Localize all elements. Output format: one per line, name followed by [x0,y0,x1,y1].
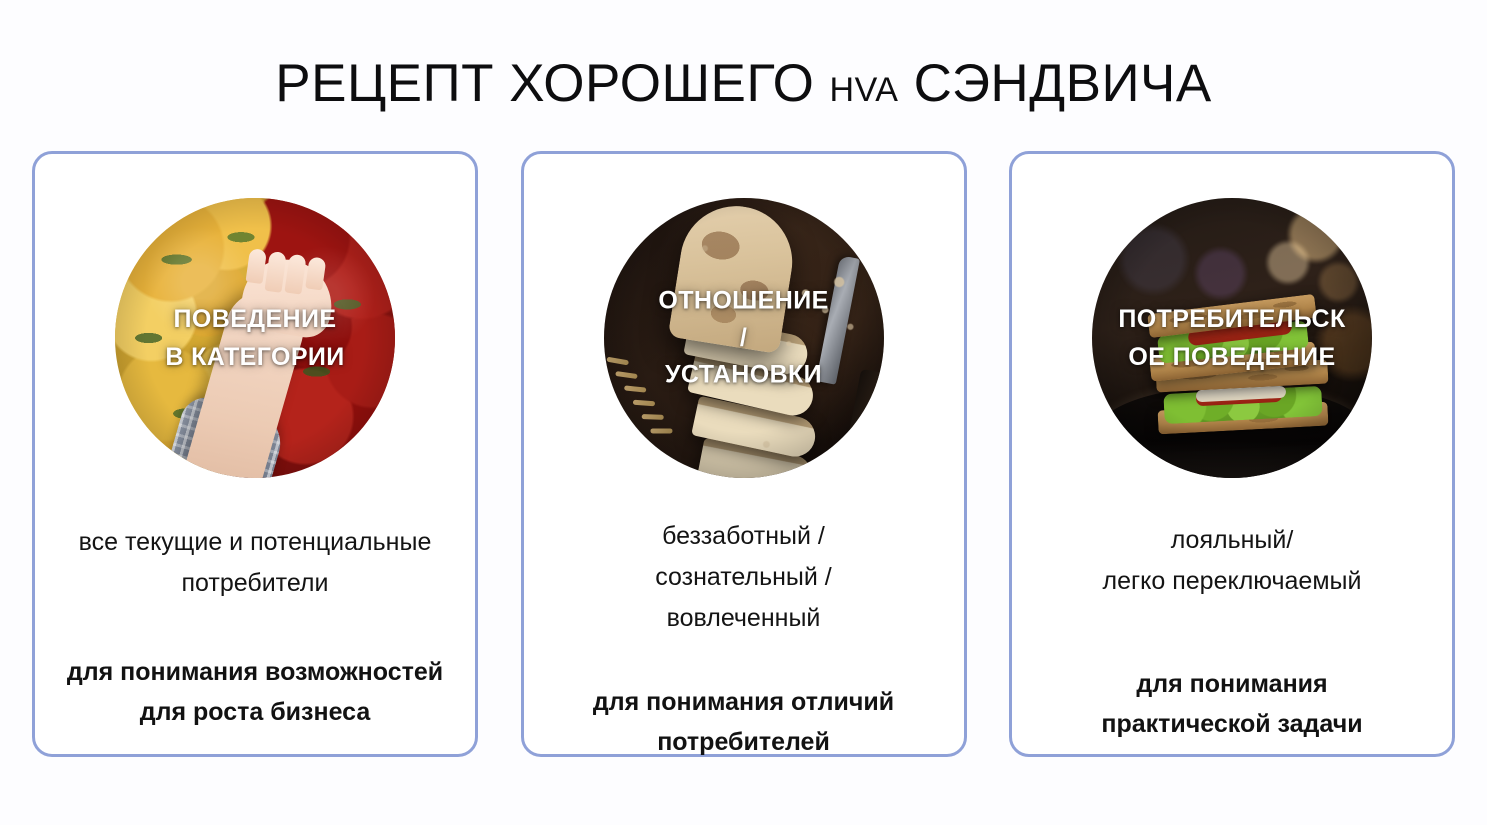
page-title: РЕЦЕПТ ХОРОШЕГО HVA СЭНДВИЧА [0,57,1487,110]
page-title-part-after: СЭНДВИЧА [898,54,1211,113]
card-text-block: лояльный/ легко переключаемый для понима… [1017,478,1447,744]
club-sandwich-photo: ПОТРЕБИТЕЛЬСК ОЕ ПОВЕДЕНИЕ [1092,198,1372,478]
card-overlay-label: ПОТРЕБИТЕЛЬСК ОЕ ПОВЕДЕНИЕ [1066,300,1398,376]
card-overlay-label: ОТНОШЕНИЕ / УСТАНОВКИ [578,283,910,394]
card-row: ПОВЕДЕНИЕ В КАТЕГОРИИ все текущие и поте… [32,151,1455,757]
card-consumer-behaviour[interactable]: ПОТРЕБИТЕЛЬСК ОЕ ПОВЕДЕНИЕ лояльный/ лег… [1009,151,1455,757]
sliced-bread-loaf-photo: ОТНОШЕНИЕ / УСТАНОВКИ [604,198,884,478]
card-purpose: для понимания возможностей для роста биз… [48,652,462,732]
card-description: беззаботный / сознательный / вовлеченный [537,516,951,639]
card-description: лояльный/ легко переключаемый [1025,520,1439,602]
card-purpose: для понимания практической задачи [1025,664,1439,744]
card-description: все текущие и потенциальные потребители [48,522,462,604]
card-attitudes[interactable]: ОТНОШЕНИЕ / УСТАНОВКИ беззаботный / созн… [521,151,967,757]
card-purpose: для понимания отличий потребителей [537,682,951,762]
page-title-acronym: HVA [830,71,899,109]
card-behaviour-in-category[interactable]: ПОВЕДЕНИЕ В КАТЕГОРИИ все текущие и поте… [32,151,478,757]
page-title-part-before: РЕЦЕПТ ХОРОШЕГО [275,54,829,113]
card-overlay-label: ПОВЕДЕНИЕ В КАТЕГОРИИ [89,300,421,376]
card-text-block: беззаботный / сознательный / вовлеченный… [529,478,959,762]
slide-root: РЕЦЕПТ ХОРОШЕГО HVA СЭНДВИЧА ПОВЕДЕНИЕ В… [0,0,1487,825]
card-text-block: все текущие и потенциальные потребители … [40,478,470,732]
bell-peppers-hand-photo: ПОВЕДЕНИЕ В КАТЕГОРИИ [115,198,395,478]
